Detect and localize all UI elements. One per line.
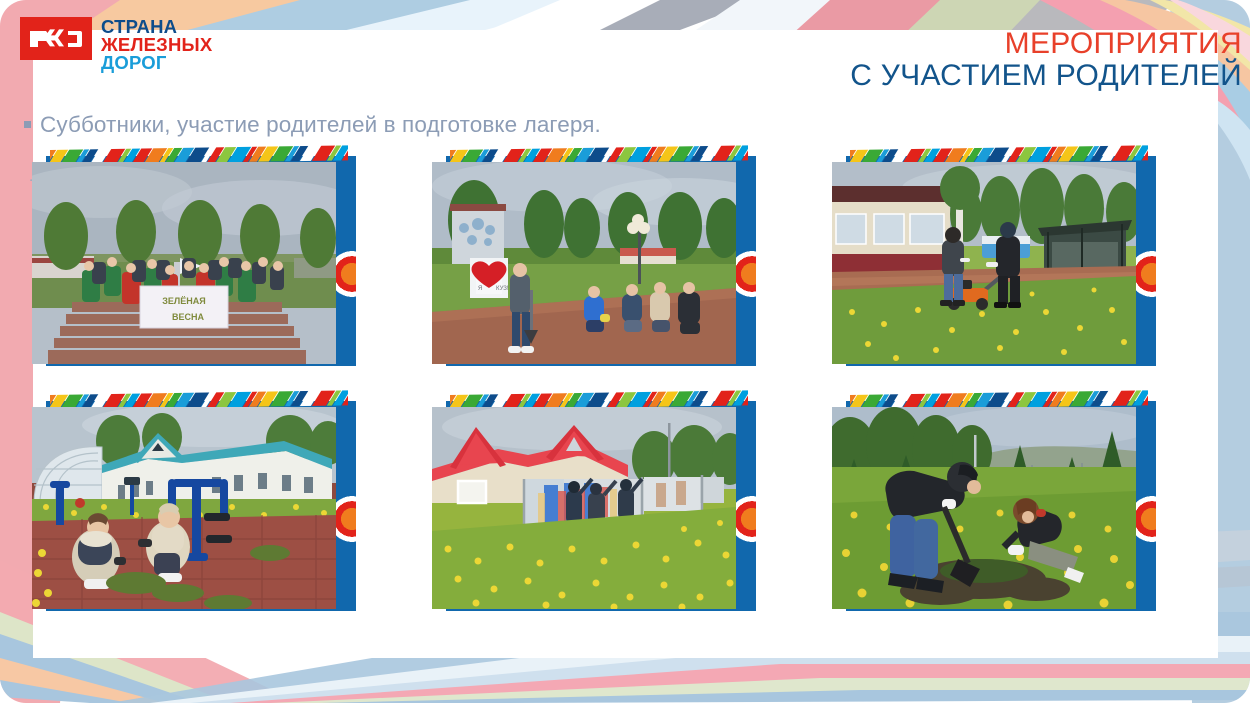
photo-card-5[interactable] [432, 395, 750, 613]
photo-image-4 [32, 407, 336, 609]
rzd-emblem-icon [20, 17, 92, 60]
photo-image-1: ЗЕЛЁНАЯ ВЕСНА [32, 162, 336, 364]
bullet-list-item: Субботники, участие родителей в подготов… [24, 112, 601, 138]
rzd-brand-logo: СТРАНА ЖЕЛЕЗНЫХ ДОРОГ [20, 17, 212, 72]
photo-gallery-grid: ЗЕЛЁНАЯ ВЕСНА [32, 150, 1162, 615]
bullet-square-icon [24, 121, 31, 128]
page-title-line-2: С УЧАСТИЕМ РОДИТЕЛЕЙ [850, 60, 1242, 92]
svg-text:ВЕСНА: ВЕСНА [172, 312, 205, 322]
photo-image-2: Я КУЗ! [432, 162, 736, 364]
photo-card-1[interactable]: ЗЕЛЁНАЯ ВЕСНА [32, 150, 350, 368]
page-title: МЕРОПРИЯТИЯ С УЧАСТИЕМ РОДИТЕЛЕЙ [850, 28, 1242, 93]
stray-period-text: . [29, 168, 33, 185]
photo-image-6 [832, 407, 1136, 609]
photo-image-5 [432, 407, 736, 609]
photo-image-3 [832, 162, 1136, 364]
photo-card-6[interactable] [832, 395, 1150, 613]
svg-text:Я: Я [478, 286, 482, 292]
svg-text:КУЗ!: КУЗ! [496, 286, 509, 292]
photo-card-2[interactable]: Я КУЗ! [432, 150, 750, 368]
bullet-item-label: Субботники, участие родителей в подготов… [40, 112, 601, 138]
logo-word-line-3: ДОРОГ [101, 54, 212, 72]
page-title-line-1: МЕРОПРИЯТИЯ [850, 28, 1242, 60]
photo-card-4[interactable] [32, 395, 350, 613]
photo-card-3[interactable] [832, 150, 1150, 368]
svg-text:ЗЕЛЁНАЯ: ЗЕЛЁНАЯ [162, 296, 205, 306]
